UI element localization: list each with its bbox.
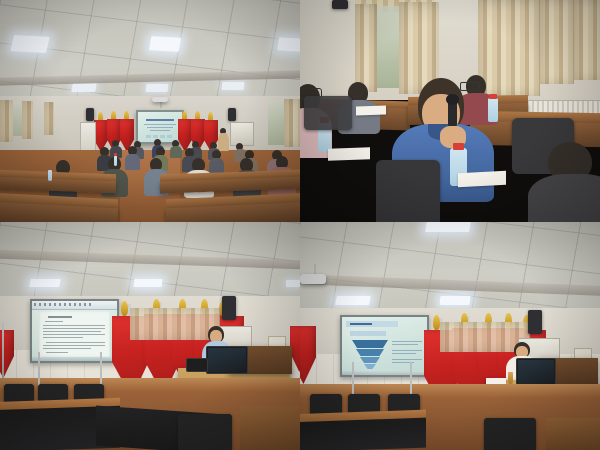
floor-highlight (300, 384, 600, 398)
wall-speaker (86, 108, 94, 121)
document-line (43, 331, 101, 332)
collage-panel-top-right (300, 0, 600, 222)
flag-pole (2, 322, 4, 380)
word-status-bar (32, 357, 117, 361)
document-line (43, 325, 105, 326)
slide-text-line (150, 130, 170, 131)
monitor-screen (208, 348, 246, 372)
slide-body-line (392, 353, 416, 354)
slide-body-line (392, 359, 422, 360)
ceiling-light (146, 84, 169, 92)
slide-footer-block (146, 135, 151, 138)
document-line (43, 348, 91, 349)
window-curtain (0, 100, 13, 142)
slide-text-line (144, 124, 176, 125)
funnel-tier (352, 340, 388, 348)
document-heading (48, 316, 72, 318)
person-body (528, 174, 600, 222)
notepad (356, 105, 386, 115)
collage-panel-top-left (0, 0, 300, 222)
document-line (43, 337, 83, 338)
window-curtain (574, 0, 600, 80)
flag-finial (121, 301, 128, 316)
notepad (458, 171, 506, 188)
podium-monitor (516, 358, 556, 386)
slide-status-bar (342, 371, 427, 375)
conference-table (240, 406, 300, 450)
bottle-cap (453, 143, 464, 150)
person-body (218, 133, 229, 151)
ceiling-light (222, 82, 245, 90)
document-line (46, 352, 68, 353)
podium-monitor (206, 346, 248, 374)
ceiling-projector (300, 274, 326, 284)
document-heading (45, 321, 63, 322)
document-line (43, 334, 105, 335)
window-curtain (22, 101, 33, 139)
wall-speaker (528, 310, 542, 334)
water-bottle (488, 98, 498, 122)
projection-screen (30, 299, 119, 363)
toolbar-icons (34, 303, 94, 306)
collage-panel-bottom-right (300, 222, 600, 450)
ceiling-light (440, 296, 471, 305)
conference-chair (376, 160, 440, 222)
water-bottle (114, 156, 117, 166)
window (13, 102, 22, 136)
slide-body-line (392, 344, 418, 345)
slide-body-line (392, 341, 422, 342)
ceiling-light (71, 83, 97, 92)
projection-screen (136, 110, 184, 144)
slide-footer-block (153, 135, 158, 138)
slide-footer-block (167, 135, 172, 138)
window-curtain (540, 0, 574, 84)
window-curtain (284, 99, 300, 147)
flag-finial (433, 315, 440, 330)
window-curtain (478, 0, 540, 96)
projector (152, 97, 168, 102)
ceiling-light (277, 37, 300, 51)
window-curtain (130, 308, 220, 340)
funnel-tier (356, 349, 384, 356)
ceiling-light (29, 279, 61, 287)
ceiling-light (425, 222, 471, 232)
table-front (300, 418, 426, 450)
collage-panel-bottom-left (0, 222, 300, 450)
wall-speaker (332, 0, 348, 9)
notepad (328, 147, 370, 160)
bottle-cap (114, 153, 117, 156)
window (268, 100, 284, 145)
person-body (170, 146, 182, 158)
ceiling-light (10, 35, 49, 53)
slide-footer-block (160, 135, 165, 138)
wall-speaker (222, 296, 236, 320)
photo-collage (0, 0, 600, 450)
slide-heading-line (146, 119, 174, 121)
water-bottle (508, 372, 513, 384)
slide-text-line (147, 127, 173, 128)
slide-subtitle-bar (350, 331, 386, 336)
window-curtain (355, 4, 377, 92)
podium-laptop (186, 358, 208, 372)
wall-speaker (228, 108, 236, 121)
document-line (46, 342, 105, 343)
ceiling-light (335, 296, 371, 305)
front-chair (178, 414, 232, 450)
conference-table (546, 418, 600, 450)
conference-chair (304, 96, 352, 130)
document-line (43, 328, 105, 329)
slide-body-line (392, 350, 422, 351)
microphone-head (446, 94, 459, 105)
ceiling-light (149, 36, 181, 52)
person-body (125, 154, 140, 170)
slide-title-text (350, 323, 372, 325)
window-curtain (44, 102, 54, 135)
window (377, 6, 399, 88)
water-bottle (48, 170, 52, 181)
ceiling-light (286, 280, 300, 287)
front-chair (484, 418, 536, 450)
document-line (43, 345, 105, 346)
equipment-cabinet (230, 122, 254, 146)
bottle-cap (489, 94, 497, 99)
eyeglasses (460, 82, 480, 91)
monitor-screen (518, 360, 554, 384)
ceiling-light (134, 279, 163, 287)
